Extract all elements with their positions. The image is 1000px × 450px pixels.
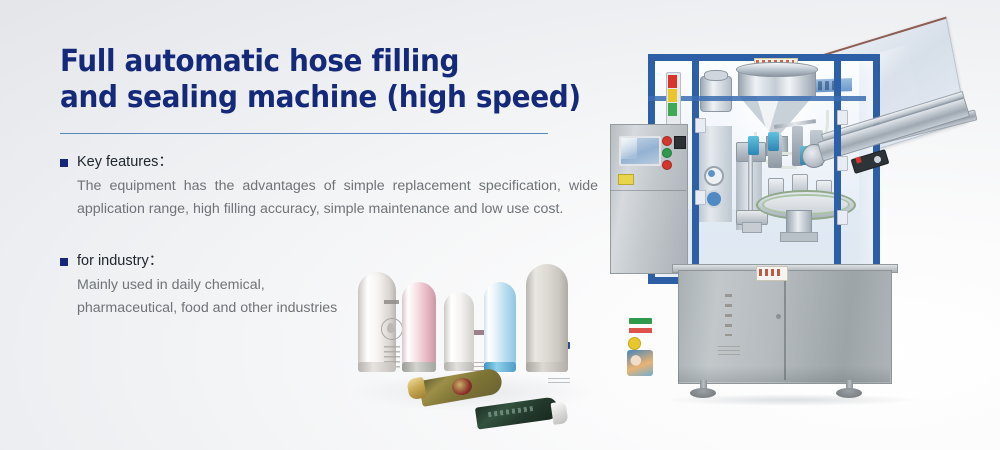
cabinet-seam — [610, 190, 686, 191]
stop-button — [662, 160, 672, 170]
pharma-white-tube — [444, 292, 474, 370]
stack-light-red — [668, 75, 677, 88]
cabinet-door-lock — [776, 314, 781, 319]
panel-clip-1 — [695, 118, 706, 133]
cyan-sensor-1 — [748, 136, 759, 155]
white-cream-tube-cap — [358, 362, 396, 372]
side-tank — [700, 76, 732, 112]
square-bullet-icon — [60, 159, 68, 167]
pharma-white-tube-cap — [444, 362, 474, 371]
cyan-sensor-2 — [768, 132, 779, 151]
for-industry-heading: for industry： — [77, 252, 163, 271]
white-cream-tube-logo-mark — [387, 323, 395, 333]
white-cream-tube — [358, 272, 396, 370]
side-tank-cap — [704, 70, 728, 81]
sunplay-tube-brand — [629, 318, 652, 324]
sample-tubes-group — [344, 252, 606, 428]
beige-tube-dot-column — [725, 294, 732, 336]
sunplay-tube-spf-badge — [628, 337, 641, 350]
key-features-heading-row: Key features： — [60, 153, 580, 172]
leveling-foot-pad-2 — [836, 388, 862, 398]
machine-photo — [596, 14, 1000, 408]
product-banner: Full automatic hose filling and sealing … — [0, 0, 1000, 450]
leveling-foot-pad-1 — [690, 388, 716, 398]
title-divider — [60, 133, 548, 134]
cabinet-door-seam — [784, 272, 786, 380]
beige-tube-text — [718, 346, 740, 355]
cabinet-bottom-shade — [678, 366, 890, 382]
pressure-gauge — [704, 166, 724, 186]
sunplay-tube-red-strip — [629, 328, 652, 333]
square-bullet-icon — [60, 258, 68, 266]
key-features-body: The equipment has the advantages of simp… — [77, 175, 598, 221]
pharma-tube-text — [548, 378, 570, 386]
stack-light-green — [668, 103, 677, 116]
start-button — [662, 148, 672, 158]
title-line-2: and sealing machine (high speed) — [60, 80, 544, 116]
panel-clip-4 — [837, 156, 848, 171]
title-line-1: Full automatic hose filling — [60, 44, 544, 80]
frame-post-left — [692, 54, 699, 270]
panel-clip-2 — [695, 190, 706, 205]
ce-warning-label — [618, 174, 634, 185]
hopper-cone-highlight — [756, 95, 780, 135]
for-industry-body: Mainly used in daily chemical, pharmaceu… — [77, 274, 347, 320]
hopper-lid — [736, 62, 818, 77]
panel-clip-5 — [837, 210, 848, 225]
beige-large-tube-cap — [526, 362, 568, 372]
key-features-block: Key features： The equipment has the adva… — [60, 153, 580, 221]
page-title: Full automatic hose filling and sealing … — [60, 44, 544, 116]
stack-light-yellow — [668, 89, 677, 102]
sunplay-blue-tube — [484, 282, 516, 370]
panel-clip-3 — [837, 110, 848, 125]
beige-large-tube — [526, 264, 568, 370]
tube-holder-base — [742, 222, 762, 233]
pressure-gauge-face — [708, 170, 715, 177]
power-switch — [674, 136, 686, 149]
piston-rod — [748, 154, 753, 210]
white-cream-tube-brand — [384, 300, 399, 304]
safety-sticker-text — [759, 269, 783, 276]
key-features-heading: Key features： — [77, 153, 173, 172]
emergency-stop-button — [662, 136, 672, 146]
pink-gradient-tube — [402, 282, 436, 370]
regulator-knob — [705, 190, 723, 208]
turret-base — [780, 232, 818, 242]
hmi-screen-glare — [621, 138, 637, 159]
pink-gradient-tube-cap — [402, 362, 436, 372]
sunplay-tube-artwork — [627, 350, 653, 376]
